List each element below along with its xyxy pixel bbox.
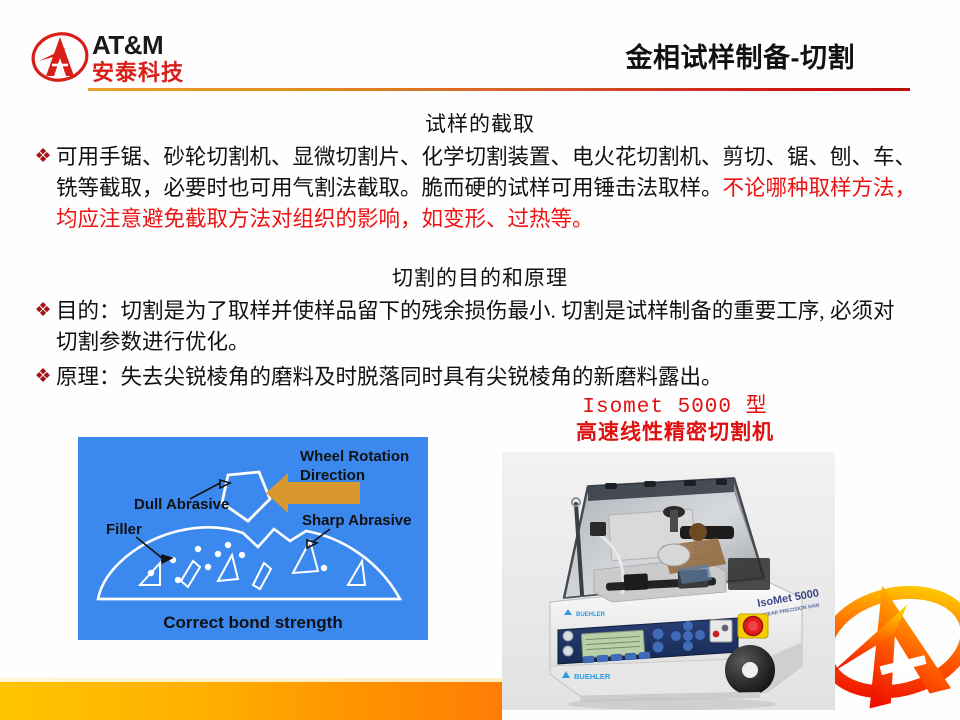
label-dull-abrasive: Dull Abrasive	[134, 496, 229, 513]
machine-start-stop-module	[710, 620, 732, 642]
bullet-text-sampling: 可用手锯、砂轮切割机、显微切割片、化学切割装置、电火花切割机、剪切、锯、刨、车、…	[56, 142, 930, 235]
logo-chinese-name: 安泰科技	[92, 60, 184, 85]
label-wheel-rotation-line2: Direction	[300, 467, 365, 484]
diamond-bullet-icon: ❖	[30, 362, 56, 391]
isomet-machine-photo: IsoMet 5000 LINEAR PRECISION SAW BUEHLER	[502, 452, 835, 710]
logo-latin-name: AT&M	[92, 32, 184, 59]
section-heading-purpose: 切割的目的和原理	[0, 262, 960, 292]
company-logo: AT&M 安泰科技	[30, 28, 195, 90]
abrasive-bond-diagram: Wheel Rotation Direction Dull Abrasive S…	[78, 437, 428, 640]
bullet-text-principle: 原理：失去尖锐棱角的磨料及时脱落同时具有尖锐棱角的新磨料露出。	[56, 362, 910, 393]
slide-canvas: AT&M 安泰科技 金相试样制备-切割 试样的截取 ❖ 可用手锯、砂轮切割机、显…	[0, 0, 960, 720]
label-wheel-rotation-line1: Wheel Rotation	[300, 448, 409, 465]
label-sharp-abrasive: Sharp Abrasive	[302, 512, 412, 529]
machine-brand-top: BUEHLER	[576, 612, 606, 618]
atm-a-oval-logo-icon	[30, 28, 90, 86]
machine-brand-front: BUEHLER	[574, 672, 611, 681]
header-divider	[88, 88, 910, 91]
machine-caption: Isomet 5000 型 高速线性精密切割机	[500, 396, 850, 445]
diamond-bullet-icon: ❖	[30, 142, 56, 171]
footer-accent-bar	[0, 682, 502, 720]
slide-header: AT&M 安泰科技 金相试样制备-切割	[0, 0, 960, 92]
bullet-item-sampling: ❖ 可用手锯、砂轮切割机、显微切割片、化学切割装置、电火花切割机、剪切、锯、刨、…	[30, 142, 930, 235]
page-title: 金相试样制备-切割	[626, 36, 856, 75]
machine-model-label: Isomet 5000 型	[500, 396, 850, 420]
diamond-bullet-icon: ❖	[30, 296, 56, 325]
machine-description-label: 高速线性精密切割机	[500, 420, 850, 445]
bullet-item-principle: ❖ 原理：失去尖锐棱角的磨料及时脱落同时具有尖锐棱角的新磨料露出。	[30, 362, 910, 393]
atm-a-gradient-watermark-icon	[835, 570, 960, 720]
label-correct-bond-strength: Correct bond strength	[163, 613, 342, 632]
label-filler: Filler	[106, 521, 142, 538]
bullet-item-purpose: ❖ 目的：切割是为了取样并使样品留下的残余损伤最小. 切割是试样制备的重要工序,…	[30, 296, 910, 358]
section-heading-sampling: 试样的截取	[0, 108, 960, 138]
bullet-text-purpose: 目的：切割是为了取样并使样品留下的残余损伤最小. 切割是试样制备的重要工序, 必…	[56, 296, 910, 358]
logo-wordmark: AT&M 安泰科技	[92, 32, 184, 85]
